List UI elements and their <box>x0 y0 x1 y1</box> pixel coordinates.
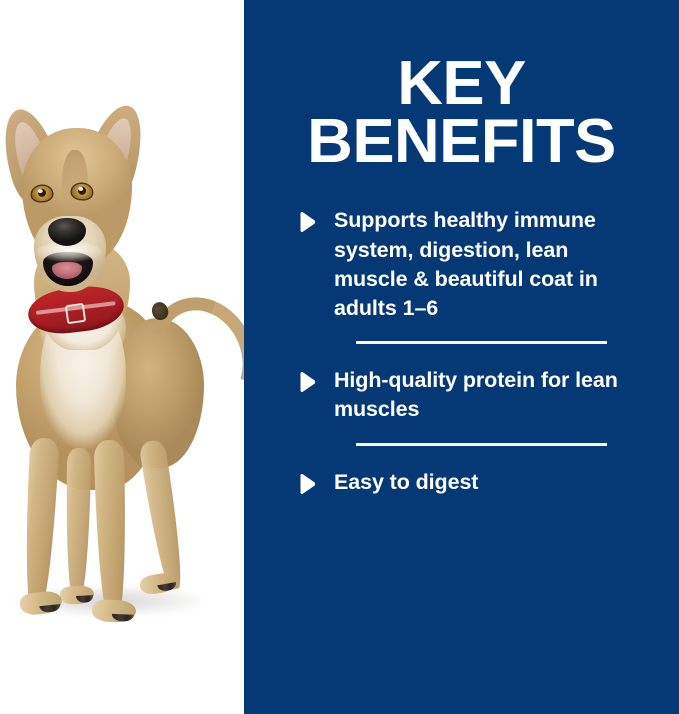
play-triangle-icon <box>294 210 318 234</box>
benefit-text: Supports healthy immune system, digestio… <box>334 206 634 323</box>
dog-leg-back-right <box>138 439 187 591</box>
dog-paw-front-right <box>92 599 137 623</box>
title-line-1: KEY <box>258 55 665 113</box>
title-line-2: BENEFITS <box>258 113 665 171</box>
dog-leg-back-left <box>65 448 92 598</box>
dog-photo <box>0 0 244 714</box>
page-title: KEY BENEFITS <box>240 0 679 170</box>
benefits-panel: KEY BENEFITS Supports healthy immune sys… <box>244 0 679 714</box>
benefit-item-2: High-quality protein for lean muscles <box>294 354 643 428</box>
dog-leg-front-left <box>22 437 60 610</box>
benefit-text: High-quality protein for lean muscles <box>334 366 634 424</box>
benefits-list: Supports healthy immune system, digestio… <box>244 170 679 501</box>
dog-photo-panel <box>0 0 244 714</box>
dog-collar-buckle <box>65 303 86 324</box>
benefit-divider-1 <box>356 341 607 344</box>
play-triangle-icon <box>294 370 318 394</box>
benefit-item-3: Easy to digest <box>294 456 643 501</box>
play-triangle-icon <box>294 472 318 496</box>
benefit-text: Easy to digest <box>334 468 478 497</box>
benefit-item-1: Supports healthy immune system, digestio… <box>294 194 643 327</box>
key-benefits-card: KEY BENEFITS Supports healthy immune sys… <box>0 0 679 714</box>
benefit-divider-2 <box>356 443 607 446</box>
